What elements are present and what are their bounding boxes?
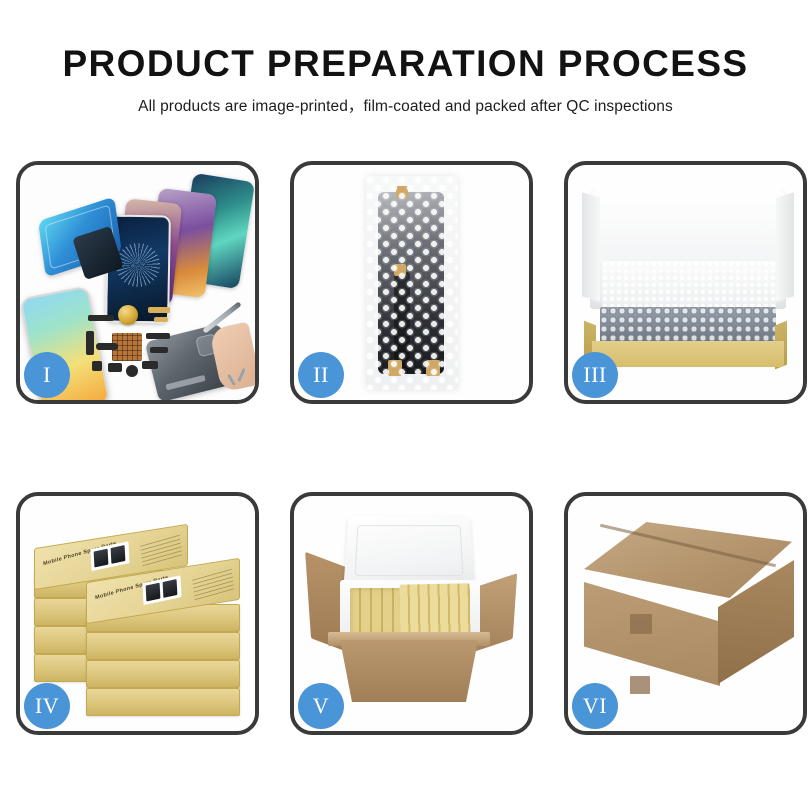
- step-6-caption: Carton sealed and ready for shipment: [568, 496, 569, 497]
- step-numeral: VI: [583, 693, 607, 719]
- process-step-panel-4[interactable]: Mobile Phone Spare Parts Mobile Phone Sp…: [16, 492, 259, 735]
- process-step-grid: I Mobile phone screens, LCD assemblies a…: [16, 161, 796, 735]
- inner-kraft-boxes-icon: [400, 583, 471, 636]
- step-2-caption: Screen assembly wrapped in bubble wrap: [294, 165, 295, 166]
- process-step-panel-3[interactable]: III Item placed in golden kraft box with…: [564, 161, 807, 404]
- flex-cable-icon: [146, 333, 170, 339]
- page-title: PRODUCT PREPARATION PROCESS: [0, 44, 811, 84]
- header: PRODUCT PREPARATION PROCESS All products…: [0, 0, 811, 116]
- carton-left-face-icon: [584, 582, 720, 686]
- carton-tape-icon: [630, 676, 650, 694]
- step-numeral: II: [313, 362, 329, 388]
- process-step-panel-1[interactable]: I Mobile phone screens, LCD assemblies a…: [16, 161, 259, 404]
- gold-connector-icon: [148, 307, 170, 313]
- step-numeral: V: [313, 693, 329, 719]
- process-step-panel-6[interactable]: VI Carton sealed and ready for shipment: [564, 492, 807, 735]
- kraft-box-edge: [86, 632, 240, 660]
- carton-front-icon: [334, 640, 484, 702]
- step-numeral: I: [43, 362, 51, 388]
- step-4-caption: Boxes stacked and labelled: [20, 496, 21, 497]
- small-part-icon: [108, 363, 122, 372]
- kraft-box-edge: [86, 688, 240, 716]
- process-step-panel-2[interactable]: II Screen assembly wrapped in bubble wra…: [290, 161, 533, 404]
- camera-module-icon: [126, 365, 138, 377]
- step-5-caption: Boxes loaded into foam box inside carton: [294, 496, 295, 497]
- step-badge-5: V: [298, 683, 344, 729]
- earpiece-part-icon: [88, 315, 114, 321]
- step-badge-2: II: [298, 352, 344, 398]
- bubble-wrap-bag-icon: [366, 176, 458, 390]
- carton-tape-icon: [630, 614, 652, 634]
- kraft-box-front-icon: [592, 341, 784, 367]
- box-spec-lines-icon: [192, 566, 235, 601]
- step-3-caption: Item placed in golden kraft box with whi…: [568, 165, 569, 166]
- small-part-icon: [142, 361, 158, 369]
- small-part-icon: [92, 361, 102, 371]
- page-subtitle: All products are image-printed，film-coat…: [0, 94, 811, 116]
- flex-cable-icon: [150, 347, 168, 353]
- box-stack-icon: Mobile Phone Spare Parts Mobile Phone Sp…: [34, 526, 244, 716]
- step-badge-6: VI: [572, 683, 618, 729]
- step-badge-1: I: [24, 352, 70, 398]
- step-badge-3: III: [572, 352, 618, 398]
- speaker-module-icon: [118, 305, 138, 325]
- gold-connector-icon: [154, 317, 168, 322]
- kraft-box-edge: [86, 660, 240, 688]
- step-badge-4: IV: [24, 683, 70, 729]
- bubble-texture-icon: [366, 176, 458, 390]
- process-step-panel-5[interactable]: V Boxes loaded into foam box inside cart…: [290, 492, 533, 735]
- bubble-wrapped-contents-icon: [600, 307, 776, 343]
- step-numeral: III: [583, 362, 606, 388]
- foam-box-lid-icon: [344, 516, 475, 587]
- box-spec-lines-icon: [140, 532, 183, 567]
- small-part-icon: [96, 343, 118, 350]
- step-numeral: IV: [35, 693, 59, 719]
- flex-cable-icon: [86, 331, 94, 355]
- foam-sheet-icon: [602, 261, 776, 313]
